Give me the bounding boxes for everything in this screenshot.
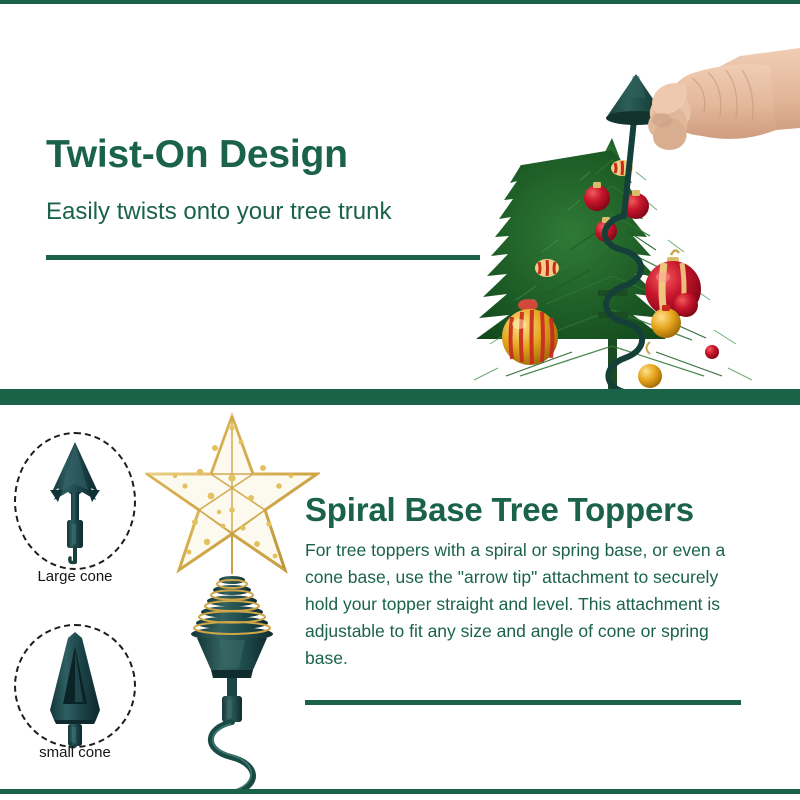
gold-star-graphic: [147, 416, 317, 574]
connector-sleeve-graphic: [222, 678, 242, 722]
top-divider-rule: [46, 255, 480, 260]
section-divider-band: [0, 389, 800, 405]
top-subheading: Easily twists onto your tree trunk: [46, 198, 391, 226]
small-cone-attachment-graphic: [38, 630, 112, 750]
bottom-body-text: For tree toppers with a spiral or spring…: [305, 537, 745, 672]
top-edge-rule: [0, 0, 800, 4]
christmas-tree-graphic: [474, 138, 752, 389]
hand-graphic: [648, 48, 800, 150]
top-photo-illustration: [440, 4, 800, 389]
star-topper-product-illustration: [145, 412, 320, 790]
bottom-heading: Spiral Base Tree Toppers: [305, 491, 694, 529]
callout-label-small-cone: small cone: [10, 744, 140, 761]
bottom-edge-rule: [0, 789, 800, 794]
bottom-divider-rule: [305, 700, 741, 705]
callout-small-cone: small cone: [10, 618, 140, 778]
product-infographic: Twist-On Design Easily twists onto your …: [0, 0, 800, 800]
top-panel: Twist-On Design Easily twists onto your …: [0, 4, 800, 389]
callout-large-cone: Large cone: [10, 432, 140, 592]
top-heading: Twist-On Design: [46, 133, 348, 177]
finial-base-graphic: [191, 576, 273, 678]
large-cone-attachment-graphic: [36, 440, 114, 566]
callout-label-large-cone: Large cone: [10, 568, 140, 585]
